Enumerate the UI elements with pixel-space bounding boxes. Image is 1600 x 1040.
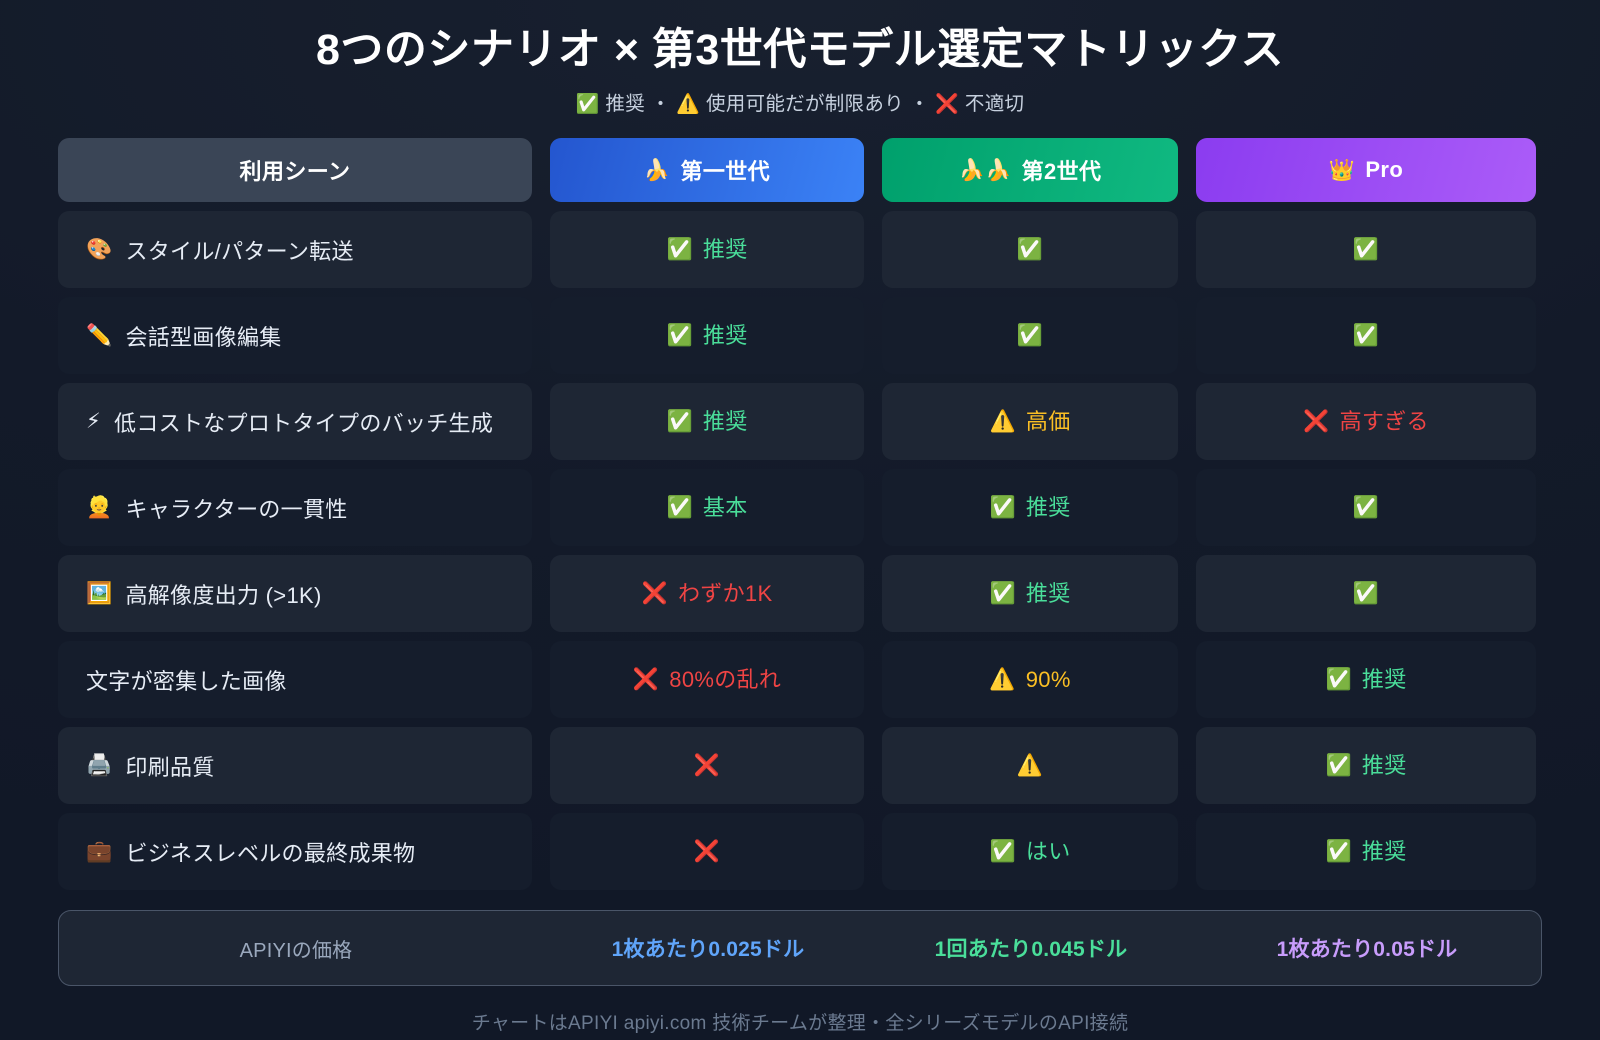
scene-icon: 🖼️ <box>86 583 112 604</box>
table-row: 🎨スタイル/パターン転送✅推奨✅✅ <box>58 211 1542 288</box>
pricing-row: APIYIの価格 1枚あたり0.025ドル 1回あたり0.045ドル 1枚あたり… <box>58 910 1542 986</box>
scene-label: 低コストなプロトタイプのバッチ生成 <box>114 406 493 438</box>
scene-icon: 💼 <box>86 841 112 862</box>
cell-scene: 🖼️高解像度出力 (>1K) <box>58 555 532 632</box>
scene-label: ビジネスレベルの最終成果物 <box>125 836 415 868</box>
status-text: 推奨 <box>703 411 748 433</box>
status-icon: ⚠️ <box>1017 755 1043 776</box>
column-header-icon: 🍌 <box>644 160 671 181</box>
cell-gen1: ✅推奨 <box>550 383 864 460</box>
page-title: 8つのシナリオ × 第3世代モデル選定マトリックス <box>58 18 1542 75</box>
legend-ok-label: 推奨 <box>605 93 645 115</box>
cell-gen1: ❌ <box>550 813 864 890</box>
pricing-gen2: 1回あたり0.045ドル <box>883 933 1179 963</box>
legend: ✅ 推奨 ・ ⚠️ 使用可能だが制限あり ・ ❌ 不適切 <box>58 87 1542 116</box>
status-icon: ✅ <box>1325 755 1351 776</box>
column-header-gen1[interactable]: 🍌第一世代 <box>550 138 864 202</box>
cell-gen1: ✅基本 <box>550 469 864 546</box>
legend-warning-icon: ⚠️ <box>676 94 700 115</box>
table-body: 🎨スタイル/パターン転送✅推奨✅✅✏️会話型画像編集✅推奨✅✅⚡低コストなプロト… <box>58 211 1542 890</box>
cell-gen1: ❌ <box>550 727 864 804</box>
status-icon: ✅ <box>989 583 1015 604</box>
cell-scene: ✏️会話型画像編集 <box>58 297 532 374</box>
status-icon: ❌ <box>642 583 668 604</box>
cell-gen1: ❌わずか1K <box>550 555 864 632</box>
status-text: わずか1K <box>678 583 772 605</box>
scene-icon: ⚡ <box>86 411 101 432</box>
cell-gen2: ✅はい <box>882 813 1178 890</box>
column-header-gen2[interactable]: 🍌🍌第2世代 <box>882 138 1178 202</box>
cell-pro: ✅ <box>1196 555 1536 632</box>
table-row: ⚡低コストなプロトタイプのバッチ生成✅推奨⚠️高価❌高すぎる <box>58 383 1542 460</box>
status-text: 80%の乱れ <box>669 669 781 691</box>
legend-ok-icon: ✅ <box>576 94 600 115</box>
status-text: 推奨 <box>1362 841 1407 863</box>
status-icon: ⚠️ <box>989 669 1015 690</box>
status-text: 推奨 <box>703 239 748 261</box>
legend-bad-icon: ❌ <box>935 94 959 115</box>
column-header-label: 利用シーン <box>240 154 351 186</box>
status-icon: ✅ <box>1353 239 1379 260</box>
status-icon: ✅ <box>666 497 692 518</box>
status-icon: ✅ <box>1325 841 1351 862</box>
cell-gen2: ✅ <box>882 297 1178 374</box>
status-icon: ✅ <box>1353 497 1379 518</box>
column-header-icon: 🍌🍌 <box>959 160 1012 181</box>
status-text: 高価 <box>1026 411 1071 433</box>
matrix-page: 8つのシナリオ × 第3世代モデル選定マトリックス ✅ 推奨 ・ ⚠️ 使用可能… <box>0 0 1600 1040</box>
cell-gen2: ✅推奨 <box>882 469 1178 546</box>
legend-warning-label: 使用可能だが制限あり <box>706 93 904 115</box>
column-header-scene[interactable]: 利用シーン <box>58 138 532 202</box>
cell-pro: ✅推奨 <box>1196 813 1536 890</box>
table-row: 文字が密集した画像❌80%の乱れ⚠️90%✅推奨 <box>58 641 1542 718</box>
table-row: 🖼️高解像度出力 (>1K)❌わずか1K✅推奨✅ <box>58 555 1542 632</box>
status-icon: ✅ <box>1017 325 1043 346</box>
pricing-label: APIYIの価格 <box>59 934 533 963</box>
status-text: 推奨 <box>1026 583 1071 605</box>
status-icon: ✅ <box>1353 583 1379 604</box>
table-row: ✏️会話型画像編集✅推奨✅✅ <box>58 297 1542 374</box>
status-icon: ⚠️ <box>989 411 1015 432</box>
legend-separator-1: ・ <box>651 93 671 115</box>
cell-gen2: ⚠️90% <box>882 641 1178 718</box>
cell-scene: ⚡低コストなプロトタイプのバッチ生成 <box>58 383 532 460</box>
table-header-row: 利用シーン🍌第一世代🍌🍌第2世代👑Pro <box>58 138 1542 202</box>
cell-gen2: ⚠️高価 <box>882 383 1178 460</box>
cell-gen1: ✅推奨 <box>550 297 864 374</box>
scene-icon: 👱 <box>86 497 112 518</box>
scene-label: スタイル/パターン転送 <box>125 234 353 266</box>
cell-scene: 👱キャラクターの一貫性 <box>58 469 532 546</box>
scene-label: 会話型画像編集 <box>125 320 281 352</box>
status-text: はい <box>1026 841 1071 863</box>
pricing-pro: 1枚あたり0.05ドル <box>1197 933 1537 963</box>
status-icon: ❌ <box>1303 411 1329 432</box>
status-icon: ❌ <box>694 841 720 862</box>
status-text: 推奨 <box>703 325 748 347</box>
column-header-label: 第2世代 <box>1022 154 1102 186</box>
cell-gen2: ✅推奨 <box>882 555 1178 632</box>
status-icon: ✅ <box>666 325 692 346</box>
column-header-label: 第一世代 <box>680 154 770 186</box>
cell-pro: ❌高すぎる <box>1196 383 1536 460</box>
cell-scene: 文字が密集した画像 <box>58 641 532 718</box>
cell-gen1: ✅推奨 <box>550 211 864 288</box>
table-row: 💼ビジネスレベルの最終成果物❌✅はい✅推奨 <box>58 813 1542 890</box>
scene-label: 文字が密集した画像 <box>86 664 287 696</box>
cell-pro: ✅推奨 <box>1196 727 1536 804</box>
status-icon: ✅ <box>1353 325 1379 346</box>
status-text: 推奨 <box>1362 755 1407 777</box>
status-icon: ❌ <box>633 669 659 690</box>
comparison-matrix: 利用シーン🍌第一世代🍌🍌第2世代👑Pro 🎨スタイル/パターン転送✅推奨✅✅✏️… <box>58 138 1542 890</box>
cell-scene: 💼ビジネスレベルの最終成果物 <box>58 813 532 890</box>
scene-label: キャラクターの一貫性 <box>125 492 347 524</box>
cell-pro: ✅ <box>1196 297 1536 374</box>
footer-note: チャートはAPIYI apiyi.com 技術チームが整理・全シリーズモデルのA… <box>58 1008 1542 1035</box>
status-icon: ✅ <box>666 411 692 432</box>
column-header-label: Pro <box>1365 157 1403 183</box>
table-row: 🖨️印刷品質❌⚠️✅推奨 <box>58 727 1542 804</box>
status-icon: ❌ <box>694 755 720 776</box>
status-icon: ✅ <box>989 841 1015 862</box>
cell-scene: 🖨️印刷品質 <box>58 727 532 804</box>
status-text: 推奨 <box>1362 669 1407 691</box>
scene-icon: 🖨️ <box>86 755 112 776</box>
scene-icon: ✏️ <box>86 325 112 346</box>
status-text: 基本 <box>703 497 748 519</box>
column-header-icon: 👑 <box>1329 160 1356 181</box>
table-row: 👱キャラクターの一貫性✅基本✅推奨✅ <box>58 469 1542 546</box>
legend-separator-2: ・ <box>910 93 930 115</box>
status-icon: ✅ <box>666 239 692 260</box>
status-text: 高すぎる <box>1340 411 1429 433</box>
scene-icon: 🎨 <box>86 239 112 260</box>
status-text: 90% <box>1026 669 1071 691</box>
cell-scene: 🎨スタイル/パターン転送 <box>58 211 532 288</box>
cell-pro: ✅推奨 <box>1196 641 1536 718</box>
column-header-pro[interactable]: 👑Pro <box>1196 138 1536 202</box>
cell-gen2: ⚠️ <box>882 727 1178 804</box>
status-icon: ✅ <box>1325 669 1351 690</box>
status-text: 推奨 <box>1026 497 1071 519</box>
scene-label: 印刷品質 <box>125 750 214 782</box>
legend-bad-label: 不適切 <box>965 93 1024 115</box>
status-icon: ✅ <box>1017 239 1043 260</box>
cell-pro: ✅ <box>1196 469 1536 546</box>
scene-label: 高解像度出力 (>1K) <box>125 578 321 610</box>
status-icon: ✅ <box>989 497 1015 518</box>
cell-gen1: ❌80%の乱れ <box>550 641 864 718</box>
cell-pro: ✅ <box>1196 211 1536 288</box>
pricing-gen1: 1枚あたり0.025ドル <box>551 933 865 963</box>
cell-gen2: ✅ <box>882 211 1178 288</box>
